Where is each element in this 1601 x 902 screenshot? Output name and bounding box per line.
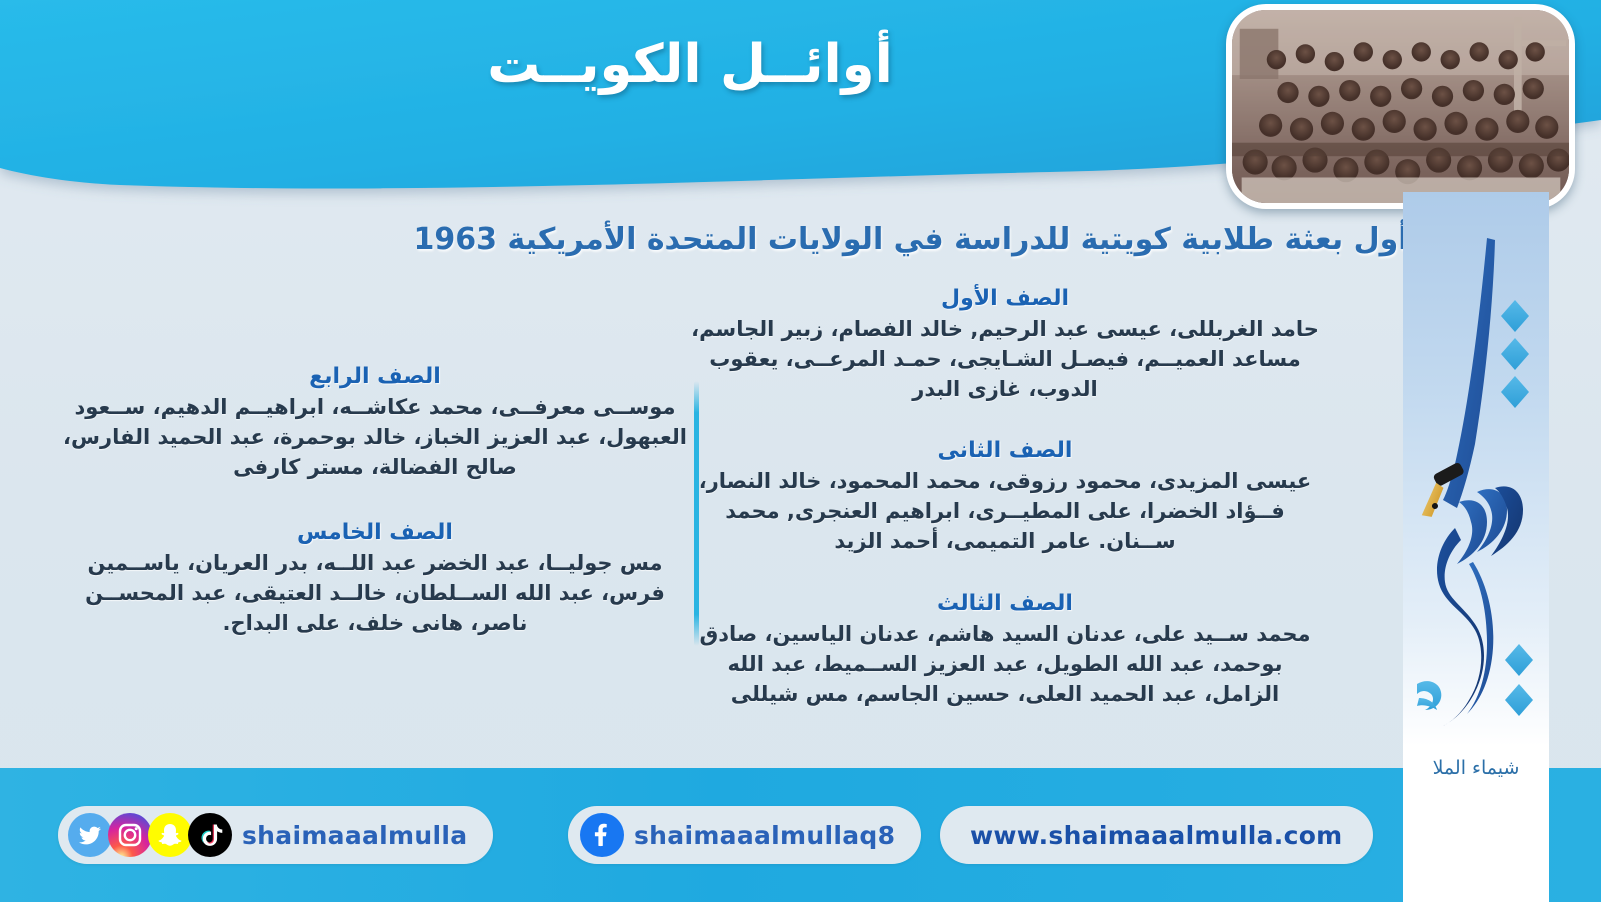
row-names-second: عيسى المزيدى، محمود رزوقى، محمد المحمود،… <box>690 467 1320 556</box>
column-left: الصف الرابع موســى معرفــى، محمد عكاشــه… <box>60 364 690 665</box>
facebook-group[interactable]: shaimaaalmullaq8 <box>568 806 921 864</box>
row-group-fourth: الصف الرابع موســى معرفــى، محمد عكاشــه… <box>60 364 690 482</box>
group-photo <box>1232 10 1569 203</box>
page-title: أوائــل الكويــت <box>0 34 1380 95</box>
header-photo-frame <box>1226 4 1575 209</box>
facebook-icon[interactable] <box>580 813 624 857</box>
row-group-fifth: الصف الخامس مس جوليــا، عبد الخضر عبد ال… <box>60 520 690 638</box>
calligraphy-pen-icon <box>1403 192 1549 792</box>
social-handle-text: shaimaaalmulla <box>242 821 467 850</box>
content-area: الصف الأول حامد الغربللى، عيسى عبد الرحي… <box>0 286 1380 756</box>
footer-bar: shaimaaalmulla shaimaaalmullaq8 www.shai… <box>0 768 1601 902</box>
instagram-icon[interactable] <box>108 813 152 857</box>
row-group-second: الصف الثانى عيسى المزيدى، محمود رزوقى، م… <box>690 438 1320 556</box>
subtitle: أول بعثة طلابية كويتية للدراسة في الولاي… <box>221 222 1601 257</box>
website-group[interactable]: www.shaimaaalmulla.com <box>940 806 1373 864</box>
facebook-icon-row <box>580 813 620 857</box>
social-icon-row <box>68 813 228 857</box>
social-handles-group[interactable]: shaimaaalmulla <box>58 806 493 864</box>
column-right: الصف الأول حامد الغربللى، عيسى عبد الرحي… <box>690 286 1320 735</box>
footer-content: shaimaaalmulla shaimaaalmullaq8 www.shai… <box>0 768 1380 902</box>
snapchat-icon[interactable] <box>148 813 192 857</box>
row-names-third: محمد ســيد على، عدنان السيد هاشم، عدنان … <box>690 620 1320 709</box>
row-title-fourth: الصف الرابع <box>60 364 690 389</box>
tiktok-icon[interactable] <box>188 813 232 857</box>
brand-name: شيماء الملا <box>1403 757 1549 779</box>
row-group-first: الصف الأول حامد الغربللى، عيسى عبد الرحي… <box>690 286 1320 404</box>
twitter-icon[interactable] <box>68 813 112 857</box>
poster-canvas: أوائــل الكويــت <box>0 0 1601 902</box>
row-title-second: الصف الثانى <box>690 438 1320 463</box>
website-url-text: www.shaimaaalmulla.com <box>970 821 1343 850</box>
row-names-fourth: موســى معرفــى، محمد عكاشــه، ابراهيــم … <box>60 393 690 482</box>
column-divider <box>694 381 699 646</box>
row-names-fifth: مس جوليــا، عبد الخضر عبد اللــه، بدر ال… <box>60 549 690 638</box>
row-group-third: الصف الثالث محمد ســيد على، عدنان السيد … <box>690 591 1320 709</box>
brand-mark <box>1403 192 1549 792</box>
facebook-handle-text: shaimaaalmullaq8 <box>634 821 895 850</box>
brand-logo-panel: شيماء الملا <box>1403 192 1549 902</box>
row-title-fifth: الصف الخامس <box>60 520 690 545</box>
group-photo-art <box>1232 10 1569 203</box>
row-names-first: حامد الغربللى، عيسى عبد الرحيم, خالد الف… <box>690 315 1320 404</box>
row-title-third: الصف الثالث <box>690 591 1320 616</box>
row-title-first: الصف الأول <box>690 286 1320 311</box>
